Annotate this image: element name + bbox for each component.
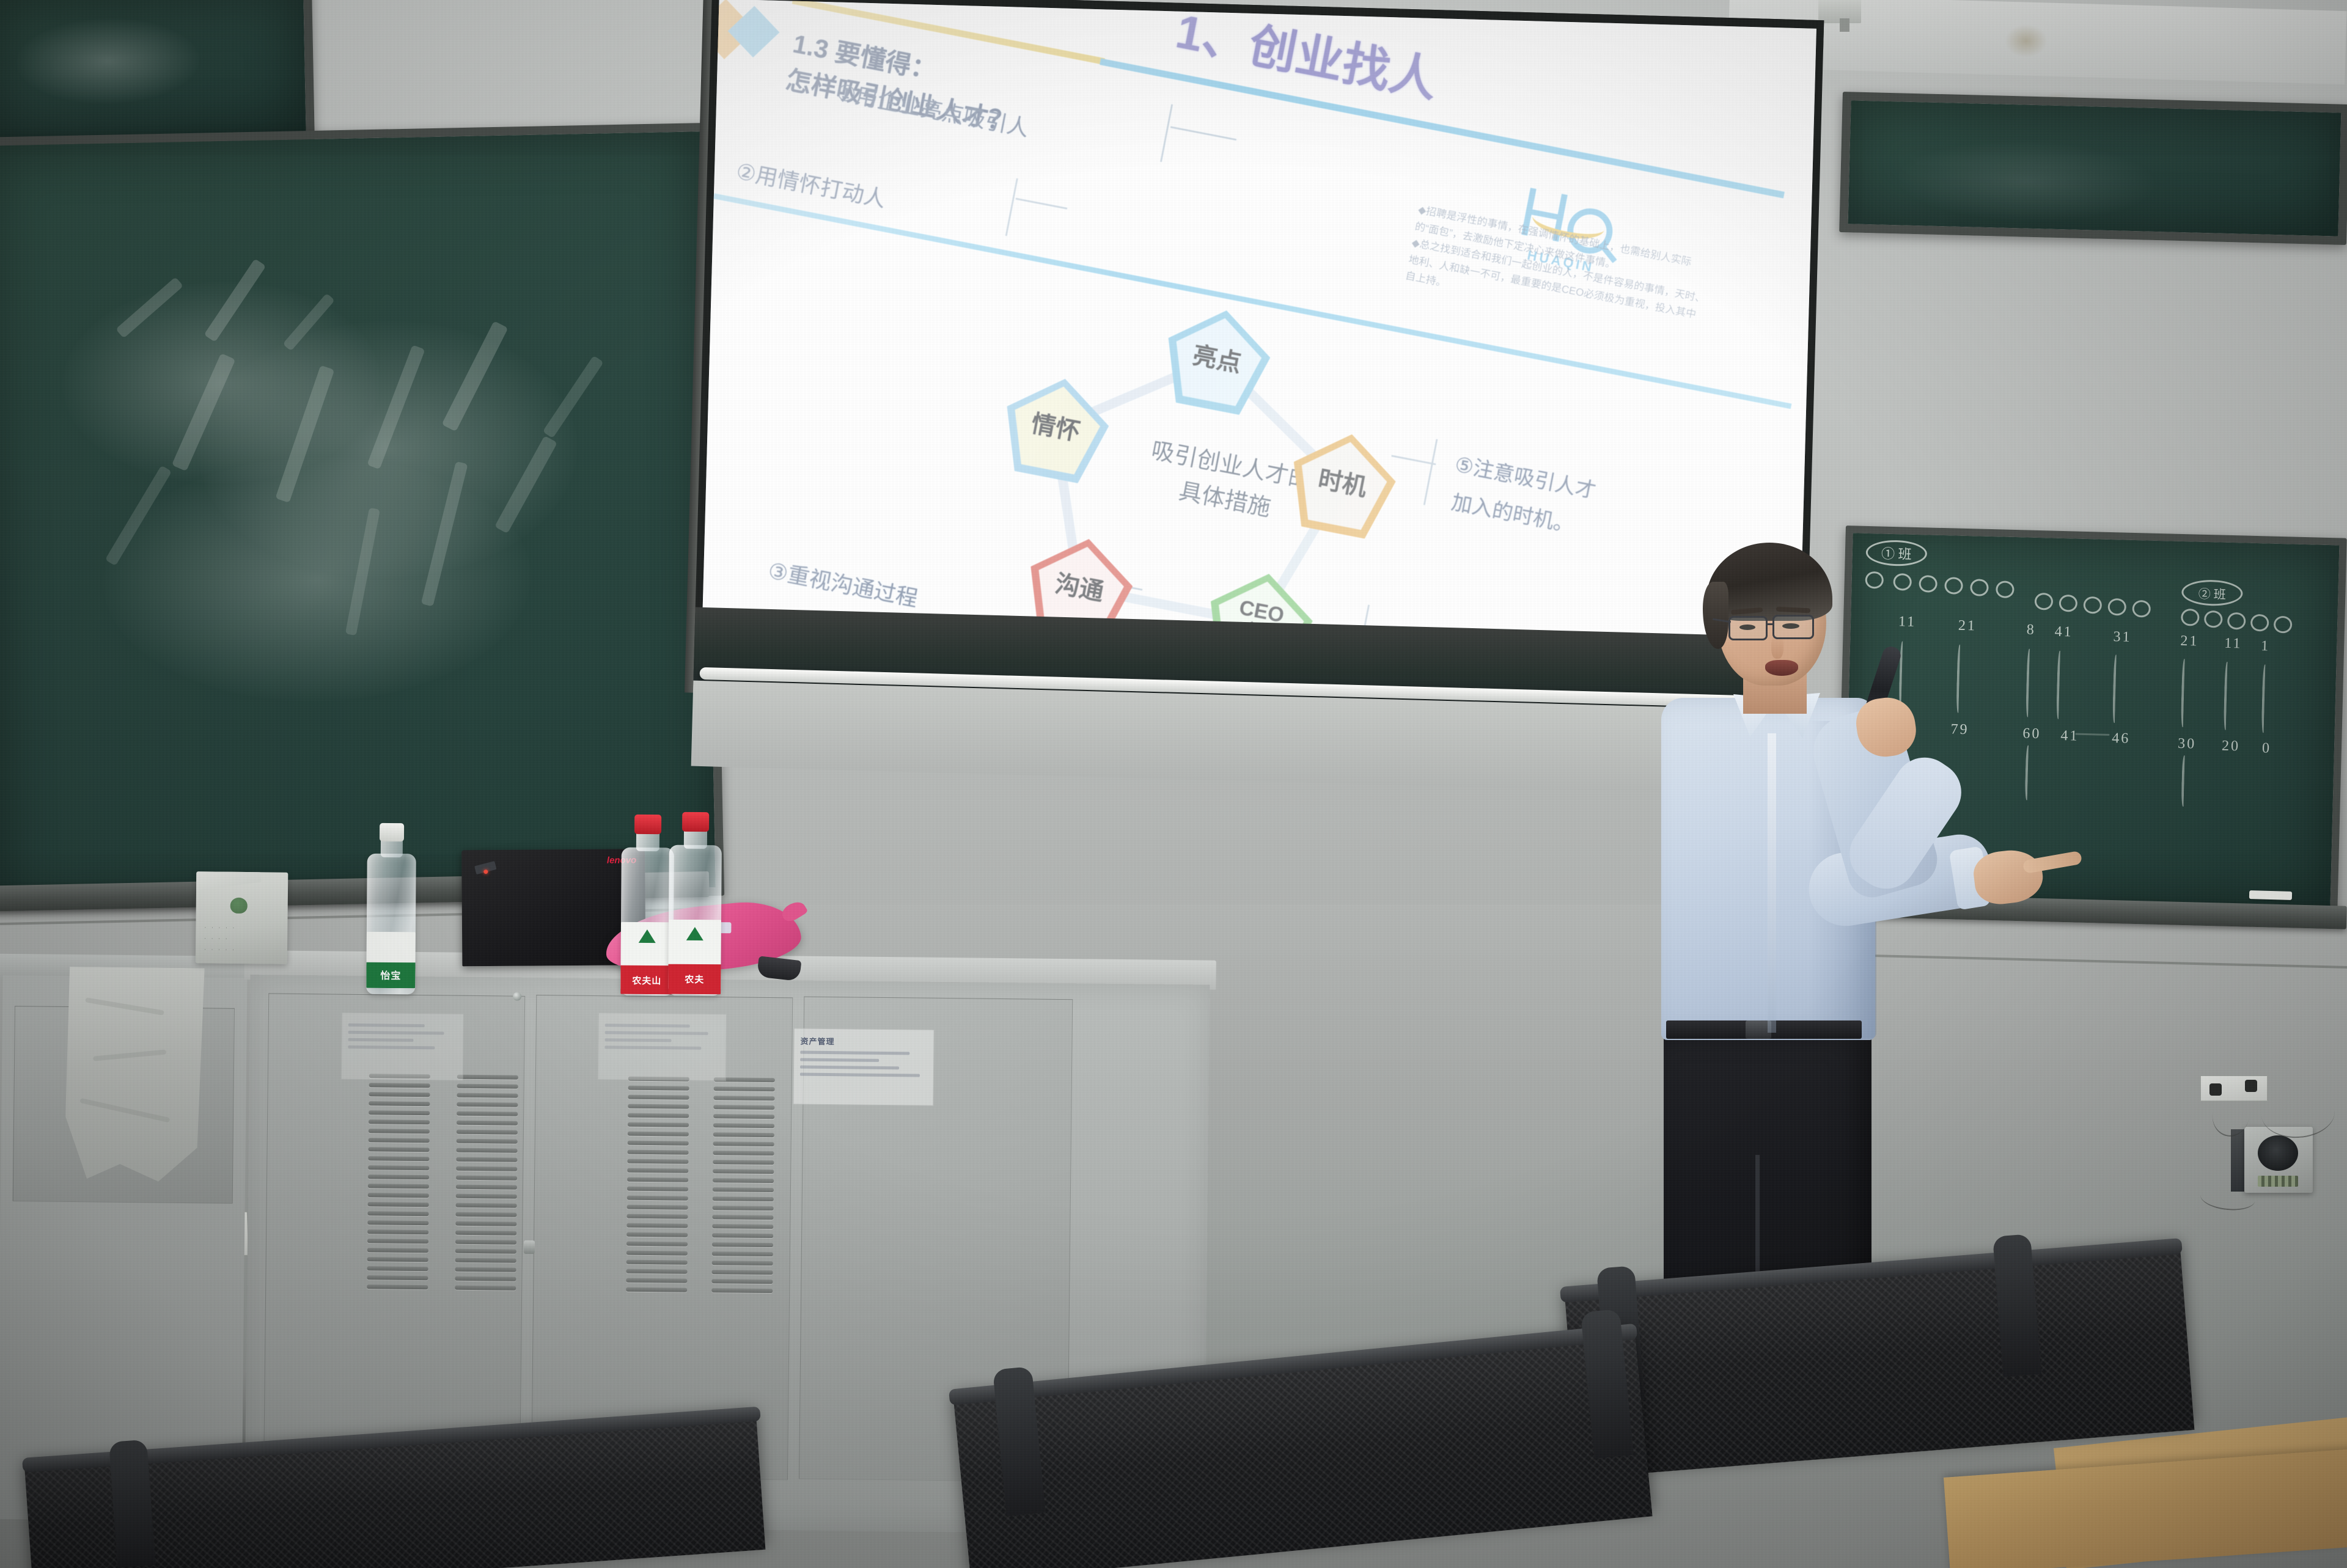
podium-asset-label-2 bbox=[341, 1013, 464, 1081]
bottle-label-green: 怡宝 bbox=[366, 932, 416, 989]
bottle-cap bbox=[682, 812, 709, 832]
podium-vent bbox=[711, 1077, 775, 1293]
podium-handle[interactable] bbox=[513, 992, 521, 1001]
cloth-towel bbox=[65, 967, 205, 1182]
podium-vent bbox=[367, 1074, 430, 1289]
blackboard-left-main bbox=[0, 123, 724, 910]
water-bottle-nongfu-1: 农夫山 bbox=[620, 848, 674, 996]
chalk-group-label-2: ② 班 bbox=[2181, 579, 2243, 607]
bottle-brand-text: 农夫 bbox=[668, 973, 721, 986]
bottle-label-nongfu: 农夫山 bbox=[620, 922, 674, 995]
bottle-cap bbox=[634, 815, 661, 834]
podium-lock[interactable] bbox=[524, 1240, 535, 1254]
leader-line bbox=[1015, 198, 1067, 210]
blackboard-left bbox=[0, 0, 315, 147]
water-bottle-green: 怡宝 bbox=[366, 854, 416, 995]
projector-mount-stub bbox=[1840, 18, 1849, 32]
leader-line bbox=[1391, 455, 1436, 465]
sticker-title: 资产管理 bbox=[800, 1035, 927, 1048]
podium-asset-label-3 bbox=[598, 1013, 727, 1081]
eyeglasses-bridge bbox=[1767, 623, 1774, 625]
chalk-stick bbox=[2249, 890, 2292, 900]
water-bottle-nongfu-2: 农夫 bbox=[668, 845, 722, 996]
podium-vent bbox=[455, 1075, 518, 1291]
podium-vent bbox=[626, 1077, 689, 1292]
amp-vent bbox=[2258, 1176, 2298, 1187]
annotation-3: ③重视沟通过程 bbox=[766, 555, 920, 614]
laptop-status-led bbox=[483, 870, 488, 874]
shirt-placket bbox=[1768, 733, 1776, 1033]
lecture-hall-photo: ① 班 ② 班 11 21 8 41 31 21 11 1 20 bbox=[0, 0, 2347, 1568]
tissue-box: · · · · · · · · · · · · · · bbox=[196, 871, 288, 964]
bottle-cap bbox=[380, 823, 404, 841]
speaker-cone-icon bbox=[2258, 1135, 2298, 1171]
eyeglasses-lens-left bbox=[1728, 616, 1768, 640]
leader-line bbox=[1005, 178, 1018, 236]
umbrella-handle bbox=[757, 956, 801, 981]
tissue-logo-icon bbox=[230, 898, 248, 914]
bottle-brand-text: 农夫山 bbox=[620, 974, 673, 987]
slide-title: 1、创业找人 bbox=[1171, 0, 1640, 148]
podium-asset-label: 资产管理 bbox=[793, 1028, 934, 1105]
leader-line bbox=[1423, 439, 1438, 505]
bottle-brand-text: 怡宝 bbox=[366, 967, 415, 982]
bottle-label-nongfu: 农夫 bbox=[668, 920, 721, 995]
blackboard-right-upper bbox=[1839, 92, 2347, 245]
eyeglasses-lens-right bbox=[1772, 615, 1814, 639]
wall-stain bbox=[2005, 24, 2048, 57]
mouth bbox=[1765, 660, 1798, 676]
leader-line bbox=[1170, 126, 1237, 141]
presenter-hair-side bbox=[1703, 582, 1728, 649]
